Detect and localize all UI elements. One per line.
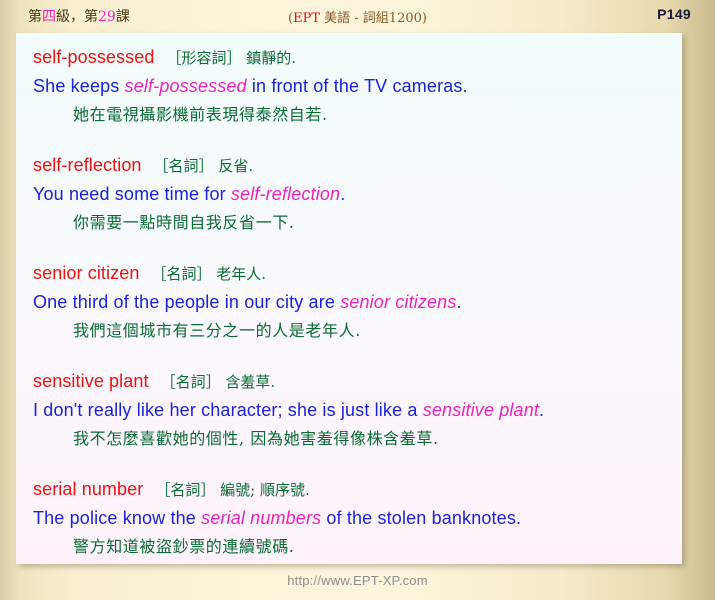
headword: senior citizen (33, 263, 139, 283)
vocabulary-panel: self-possessed［形容詞］ 鎮靜的. She keeps self-… (16, 33, 682, 564)
sentence-before: I don't really like her character; she i… (33, 400, 423, 420)
part-of-speech-definition: ［名詞］ 編號; 順序號. (155, 481, 309, 499)
entry-divider-space (16, 453, 682, 475)
sentence-keyword: self-possessed (125, 76, 247, 96)
sentence-before: You need some time for (33, 184, 231, 204)
sentence-keyword: serial numbers (201, 508, 321, 528)
example-sentence: I don't really like her character; she i… (16, 396, 682, 424)
example-sentence: You need some time for self-reflection. (16, 180, 682, 208)
example-translation: 她在電視攝影機前表現得泰然自若. (16, 100, 682, 129)
sentence-keyword: senior citizens (340, 292, 456, 312)
vocabulary-entry: sensitive plant［名詞］ 含羞草. I don't really … (16, 367, 682, 453)
entry-divider-space (16, 129, 682, 151)
sentence-after: . (456, 292, 461, 312)
entry-divider-space (16, 345, 682, 367)
headword-line: self-possessed［形容詞］ 鎮靜的. (16, 43, 682, 72)
entry-divider-space (16, 237, 682, 259)
book-title-brand: EPT (293, 11, 320, 26)
headword-line: self-reflection［名詞］ 反省. (16, 151, 682, 180)
page-number: P149 (657, 6, 691, 22)
sentence-before: One third of the people in our city are (33, 292, 340, 312)
sentence-before: The police know the (33, 508, 201, 528)
sentence-keyword: sensitive plant (423, 400, 539, 420)
sentence-after: . (539, 400, 544, 420)
example-sentence: The police know the serial numbers of th… (16, 504, 682, 532)
book-title-rest: 美語 - 詞組1200) (320, 11, 427, 26)
content-area: self-possessed［形容詞］ 鎮靜的. She keeps self-… (0, 33, 715, 567)
headword-line: sensitive plant［名詞］ 含羞草. (16, 367, 682, 396)
part-of-speech-definition: ［名詞］ 反省. (154, 157, 254, 175)
example-sentence: One third of the people in our city are … (16, 288, 682, 316)
example-translation: 我不怎麼喜歡她的個性, 因為她害羞得像株含羞草. (16, 424, 682, 453)
site-url[interactable]: http://www.EPT-XP.com (287, 573, 428, 588)
vocabulary-entry: senior citizen［名詞］ 老年人. One third of the… (16, 259, 682, 345)
book-title: (EPT 美語 - 詞組1200) (0, 7, 715, 26)
vocabulary-entry: self-reflection［名詞］ 反省. You need some ti… (16, 151, 682, 237)
sentence-keyword: self-reflection (231, 184, 340, 204)
page-header: 第四級，第29課 (EPT 美語 - 詞組1200) P149 (0, 0, 715, 33)
example-translation: 你需要一點時間自我反省一下. (16, 208, 682, 237)
part-of-speech-definition: ［名詞］ 含羞草. (161, 373, 276, 391)
sentence-after: of the stolen banknotes. (321, 508, 521, 528)
part-of-speech-definition: ［名詞］ 老年人. (151, 265, 266, 283)
sentence-after: in front of the TV cameras. (247, 76, 468, 96)
headword: sensitive plant (33, 371, 149, 391)
headword: serial number (33, 479, 143, 499)
example-translation: 警方知道被盜鈔票的連續號碼. (16, 532, 682, 561)
headword-line: senior citizen［名詞］ 老年人. (16, 259, 682, 288)
sentence-before: She keeps (33, 76, 125, 96)
headword: self-reflection (33, 155, 142, 175)
vocabulary-entry: serial number［名詞］ 編號; 順序號. The police kn… (16, 475, 682, 561)
headword: self-possessed (33, 47, 154, 67)
vocabulary-entry: self-possessed［形容詞］ 鎮靜的. She keeps self-… (16, 43, 682, 129)
part-of-speech-definition: ［形容詞］ 鎮靜的. (166, 49, 296, 67)
headword-line: serial number［名詞］ 編號; 順序號. (16, 475, 682, 504)
example-translation: 我們這個城市有三分之一的人是老年人. (16, 316, 682, 345)
page-footer: http://www.EPT-XP.com (0, 567, 715, 600)
example-sentence: She keeps self-possessed in front of the… (16, 72, 682, 100)
sentence-after: . (340, 184, 345, 204)
